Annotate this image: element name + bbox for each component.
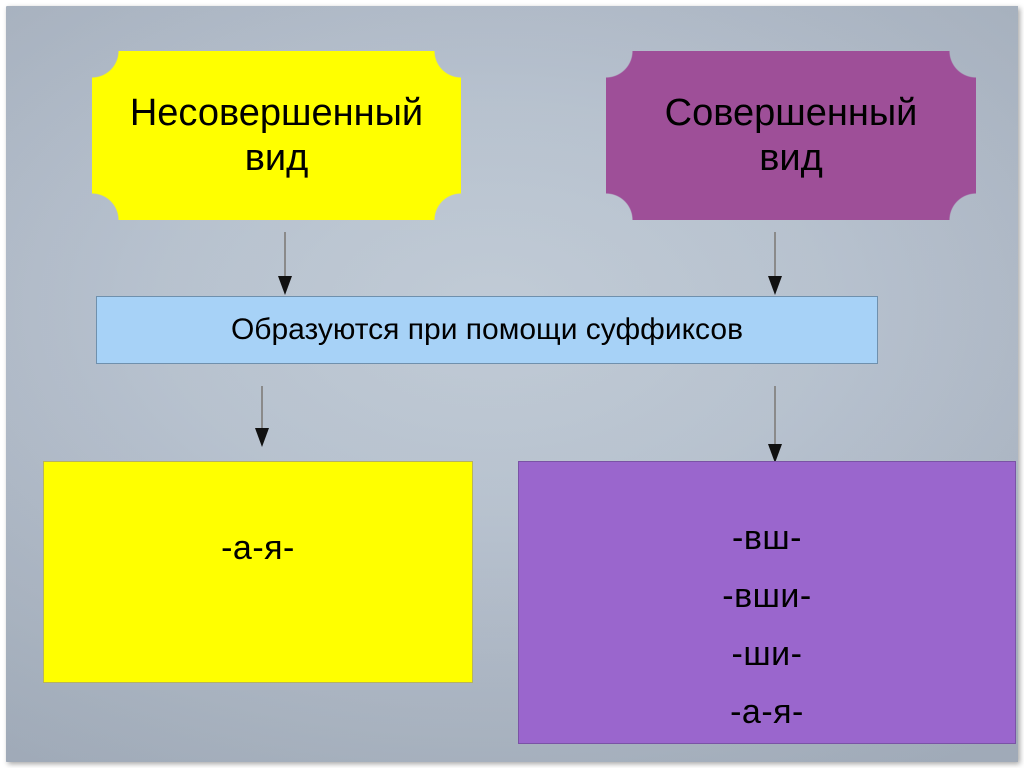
slide: Несовершенный вид Совершенный вид Образу… — [0, 0, 1024, 768]
suffix-item: -а-я- — [730, 693, 804, 732]
arrow-imperfective-to-formation-icon — [276, 232, 294, 296]
suffix-item: -вш- — [732, 519, 802, 558]
arrow-formation-to-suffix-imperfective-icon — [253, 386, 271, 448]
node-imperfective-aspect[interactable]: Несовершенный вид — [92, 51, 461, 220]
node-perfective-suffixes[interactable]: -вш- -вши- -ши- -а-я- — [518, 461, 1016, 744]
arrow-perfective-to-formation-icon — [766, 232, 784, 296]
node-perfective-aspect[interactable]: Совершенный вид — [606, 51, 976, 220]
suffix-item: -вши- — [722, 577, 811, 616]
node-formation-by-suffixes[interactable]: Образуются при помощи суффиксов — [96, 296, 878, 364]
arrow-formation-to-suffix-perfective-icon — [766, 386, 784, 464]
suffix-item: -а-я- — [221, 529, 295, 568]
node-perfective-aspect-label: Совершенный вид — [665, 91, 918, 181]
node-formation-by-suffixes-label: Образуются при помощи суффиксов — [231, 313, 743, 347]
slide-canvas: Несовершенный вид Совершенный вид Образу… — [6, 6, 1018, 762]
node-imperfective-suffixes[interactable]: -а-я- — [43, 461, 473, 683]
suffix-item: -ши- — [732, 635, 803, 674]
node-imperfective-aspect-label: Несовершенный вид — [130, 91, 423, 181]
